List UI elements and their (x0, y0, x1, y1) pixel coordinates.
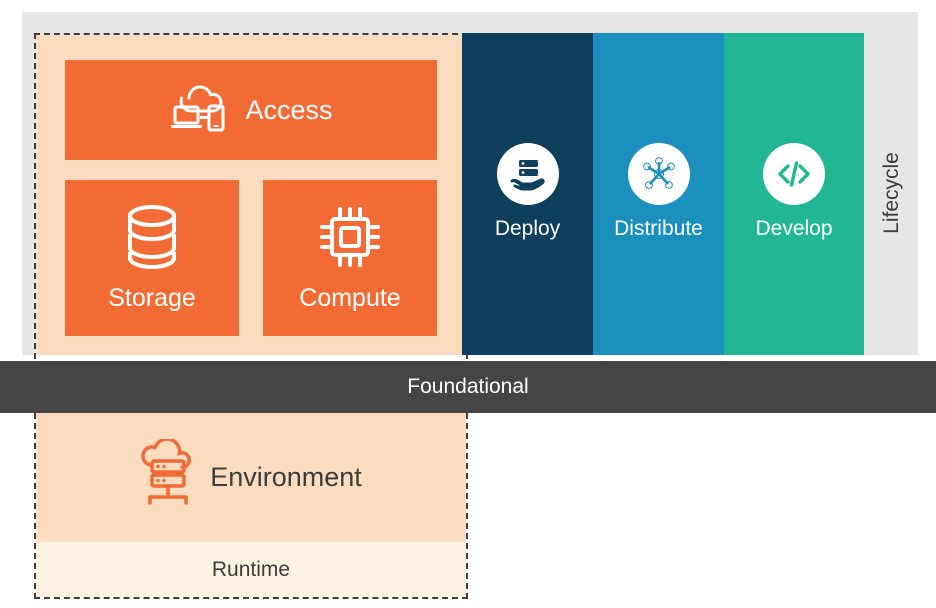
database-icon (122, 204, 182, 270)
runtime-row: Runtime (36, 542, 466, 597)
lifecycle-label-distribute: Distribute (614, 217, 703, 241)
code-brackets-icon (763, 143, 825, 205)
lifecycle-axis-label-text: Lifecycle (880, 152, 904, 234)
tile-access-label: Access (245, 95, 332, 126)
runtime-label: Runtime (212, 558, 290, 582)
tile-storage[interactable]: Storage (65, 180, 239, 336)
cloud-server-icon (140, 439, 196, 515)
lifecycle-label-develop: Develop (755, 217, 832, 241)
lifecycle-column-distribute[interactable]: Distribute (593, 33, 724, 355)
environment-label: Environment (210, 462, 362, 493)
tile-access[interactable]: Access (65, 60, 437, 160)
tile-storage-label: Storage (108, 284, 196, 313)
lifecycle-column-deploy[interactable]: Deploy (462, 33, 593, 355)
diagram-canvas: Access Storage (0, 0, 936, 608)
cloud-devices-icon (169, 84, 231, 136)
environment-row[interactable]: Environment (36, 412, 466, 542)
lifecycle-column-develop[interactable]: Develop (724, 33, 864, 355)
lifecycle-axis-label: Lifecycle (862, 118, 922, 268)
hand-server-icon (497, 143, 559, 205)
tile-compute-label: Compute (299, 284, 400, 313)
lifecycle-label-deploy: Deploy (495, 217, 560, 241)
foundational-label: Foundational (407, 375, 528, 399)
cpu-chip-icon (317, 204, 383, 270)
network-nodes-icon (628, 143, 690, 205)
tile-compute[interactable]: Compute (263, 180, 437, 336)
foundational-bar: Foundational (0, 361, 936, 413)
